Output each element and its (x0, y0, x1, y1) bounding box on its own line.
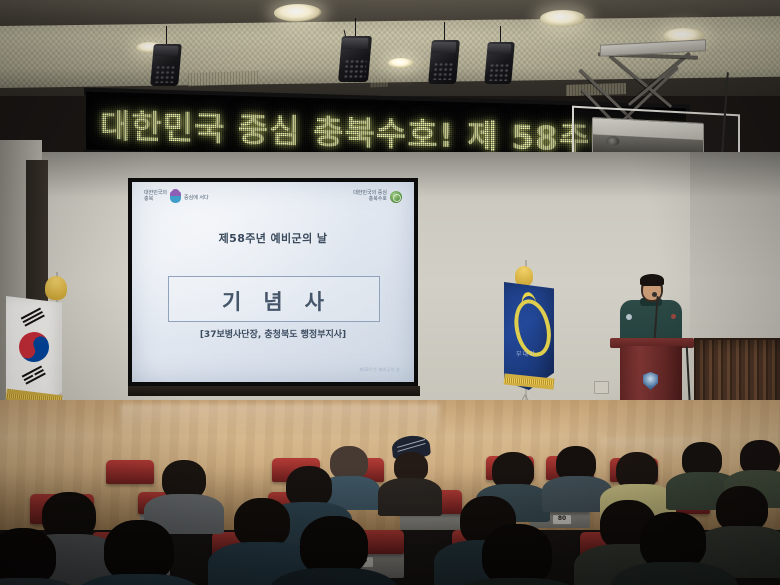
green-globe-emblem-icon (390, 191, 402, 203)
stage-spotlight (340, 36, 370, 82)
ceiling-projector (566, 36, 766, 168)
audience-head (482, 524, 552, 585)
slide-subtitle: [37보병사단장, 충청북도 행정부지사] (132, 327, 414, 340)
audience-shoulders (378, 478, 442, 516)
slide-logo-left-tagline: 중심에 서다 (184, 194, 209, 201)
auditorium-seat[interactable] (106, 460, 154, 484)
ceiling-downlight (540, 10, 586, 27)
audience-head (330, 446, 368, 480)
slide-box-text: 기념사 (132, 286, 414, 316)
unit-flag-text: 부대기 (516, 349, 539, 373)
audience-head (0, 528, 56, 585)
stage-spotlight (152, 44, 180, 86)
seat-number-badge: 80 (552, 514, 572, 525)
audience-head (234, 498, 290, 548)
stage-spotlight (486, 42, 513, 84)
flag-tassel-left (45, 276, 67, 300)
wall-power-outlet (594, 381, 609, 394)
stage-front-edge (128, 386, 420, 396)
taeguk-symbol-icon (14, 327, 55, 368)
speaker-left-patch-icon (626, 314, 632, 320)
flag-tassel-right (515, 266, 533, 286)
slide-logo-left: 대한민국의 충북 중심에 서다 (144, 191, 209, 203)
ceiling-vent-grille (370, 78, 388, 88)
microphone-head-icon (652, 292, 657, 297)
auditorium-scene: 대한민국 중심 충북수호! 제 58주년 예비군 대한민국의 충북 (0, 0, 780, 585)
slide-logo-right-line2: 충북수호 (353, 197, 387, 203)
speaker-right-patch-icon (671, 314, 676, 319)
ceiling-downlight (388, 58, 414, 68)
audience-head (42, 492, 96, 540)
audience-head (104, 520, 174, 582)
slide-logo-left-line2: 충북 (144, 197, 167, 203)
projection-screen: 대한민국의 충북 중심에 서다 대한민국의 중심 충북수호 제58주년 예비군의… (132, 182, 414, 382)
ceiling-vent-grille (188, 71, 258, 86)
stage-floor-reflection (120, 404, 440, 434)
slide-title: 제58주년 예비군의 날 (132, 230, 414, 246)
slide-logo-right: 대한민국의 중심 충북수호 (353, 191, 402, 203)
trigram-icon (21, 307, 46, 327)
trigram-icon (22, 365, 47, 385)
chungbuk-emblem-icon (170, 191, 181, 203)
slide-footer: 제58주년 예비군의 날 (359, 367, 400, 373)
stage-spotlight (430, 40, 458, 84)
projector-lens-icon (606, 136, 620, 147)
audience-head (300, 516, 368, 576)
speaker-hair (640, 274, 664, 286)
ceiling-downlight (274, 4, 322, 22)
